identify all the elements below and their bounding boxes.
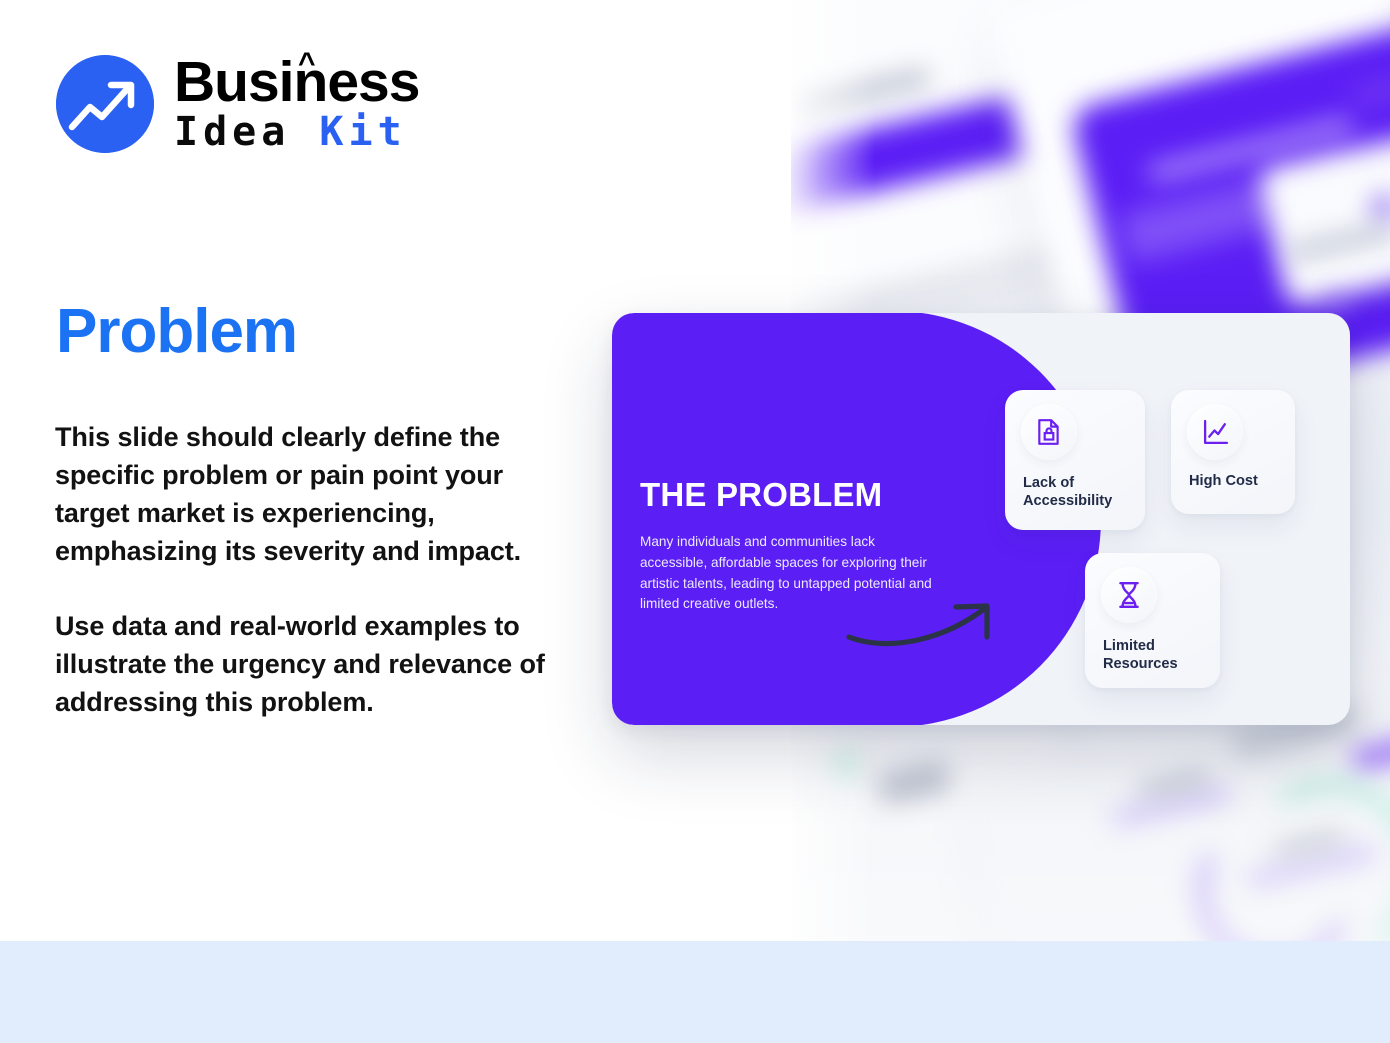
page-title: Problem <box>56 296 297 367</box>
slide-heading: THE PROBLEM <box>640 476 882 514</box>
bg-text-shape <box>1147 117 1354 181</box>
bg-line-shape <box>791 68 931 117</box>
feature-card-high-cost[interactable]: High Cost <box>1171 390 1295 514</box>
feature-card-label: High Cost <box>1189 472 1285 490</box>
bg-bar-shape <box>1246 846 1376 888</box>
brand-name-idea-text: Idea <box>174 109 319 155</box>
feature-card-limited-resources[interactable]: Limited Resources <box>1085 553 1220 688</box>
bg-card-shape <box>987 0 1390 333</box>
bg-dot-shape <box>831 752 855 776</box>
bg-bar-shape <box>791 85 1074 217</box>
curved-arrow-icon <box>844 595 1014 650</box>
description-paragraph: Use data and real-world examples to illu… <box>55 607 567 721</box>
bg-card-shape <box>791 0 1173 314</box>
bottom-color-band <box>0 941 1390 1043</box>
feature-card-lack-of-accessibility[interactable]: Lack of Accessibility <box>1005 390 1145 530</box>
brand-caret-accent: ^ <box>298 49 315 78</box>
hourglass-icon <box>1101 567 1157 623</box>
bg-bar-shape <box>1350 720 1390 773</box>
feature-card-label: Limited Resources <box>1103 637 1210 674</box>
brand-logo[interactable]: Business ^ Idea Kit <box>56 55 419 153</box>
bg-line-shape <box>1286 223 1390 261</box>
bg-bar-shape <box>1111 787 1231 827</box>
brand-wordmark: Business ^ Idea Kit <box>174 55 419 153</box>
bg-bar-shape <box>1350 58 1390 111</box>
bg-text-shape <box>1119 157 1364 264</box>
bg-arc-shape <box>1055 9 1228 182</box>
feature-card-label: Lack of Accessibility <box>1023 474 1135 511</box>
document-lock-icon <box>1021 404 1077 460</box>
trending-up-arrow-icon <box>56 55 154 153</box>
bg-line-shape <box>877 761 952 806</box>
page-description: This slide should clearly define the spe… <box>55 418 567 721</box>
bg-dot-shape <box>1371 195 1390 221</box>
bg-donut-chart-shape <box>1227 766 1390 941</box>
brand-name-business: Business ^ <box>174 55 419 111</box>
brand-name-kit-text: Kit <box>319 109 406 155</box>
slide-preview-card[interactable]: THE PROBLEM Many individuals and communi… <box>612 313 1350 725</box>
line-chart-icon <box>1187 404 1243 460</box>
brand-name-business-text: Business <box>174 50 419 114</box>
bg-text-shape <box>1273 830 1344 858</box>
bg-donut-chart-shape <box>1175 789 1377 941</box>
bg-text-shape <box>1138 770 1209 798</box>
bg-card-shape <box>1257 132 1390 308</box>
bg-dot-shape <box>1326 296 1344 314</box>
brand-name-ideakit: Idea Kit <box>174 111 419 153</box>
description-paragraph: This slide should clearly define the spe… <box>55 418 567 570</box>
page-root: Business ^ Idea Kit Problem This slide s… <box>0 0 1390 1043</box>
